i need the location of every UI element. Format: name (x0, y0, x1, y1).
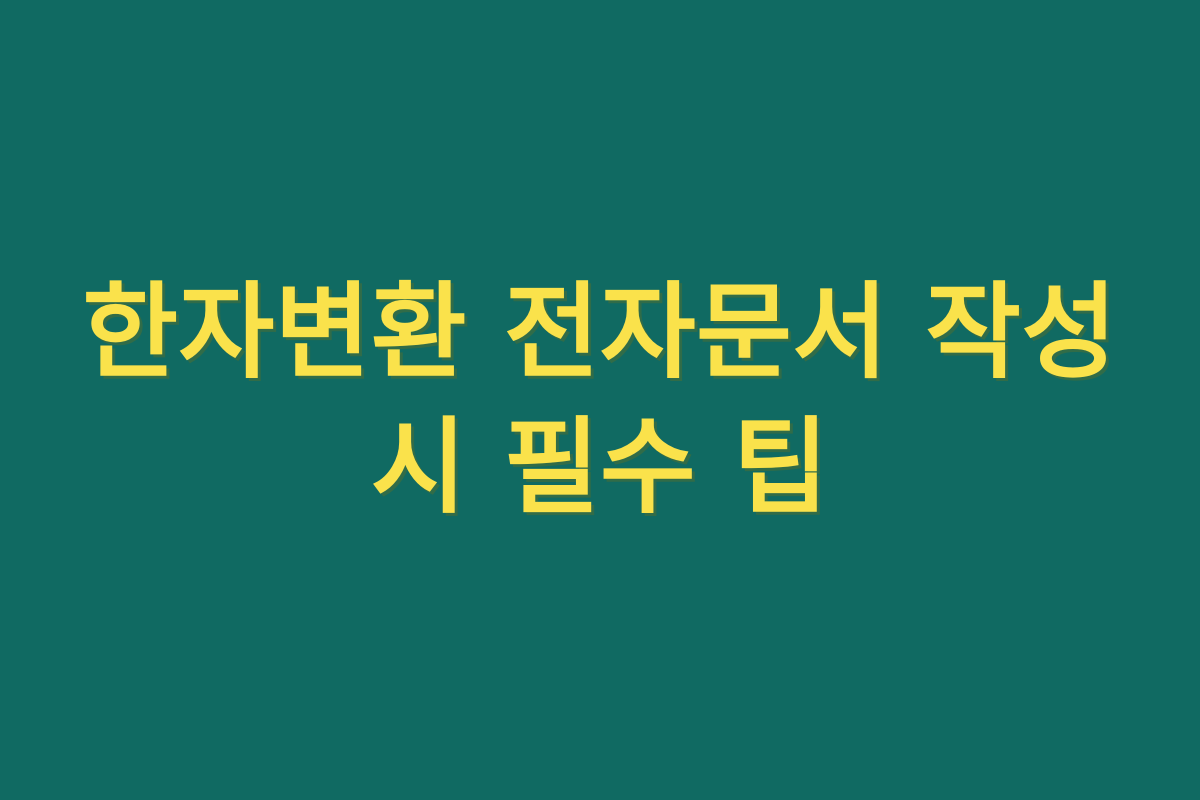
page-title-line-1: 한자변환 전자문서 작성 (40, 265, 1160, 400)
page-title-line-2: 시 필수 팁 (40, 400, 1160, 535)
page-title: 한자변환 전자문서 작성 시 필수 팁 (0, 265, 1200, 535)
title-banner: 한자변환 전자문서 작성 시 필수 팁 (0, 0, 1200, 800)
